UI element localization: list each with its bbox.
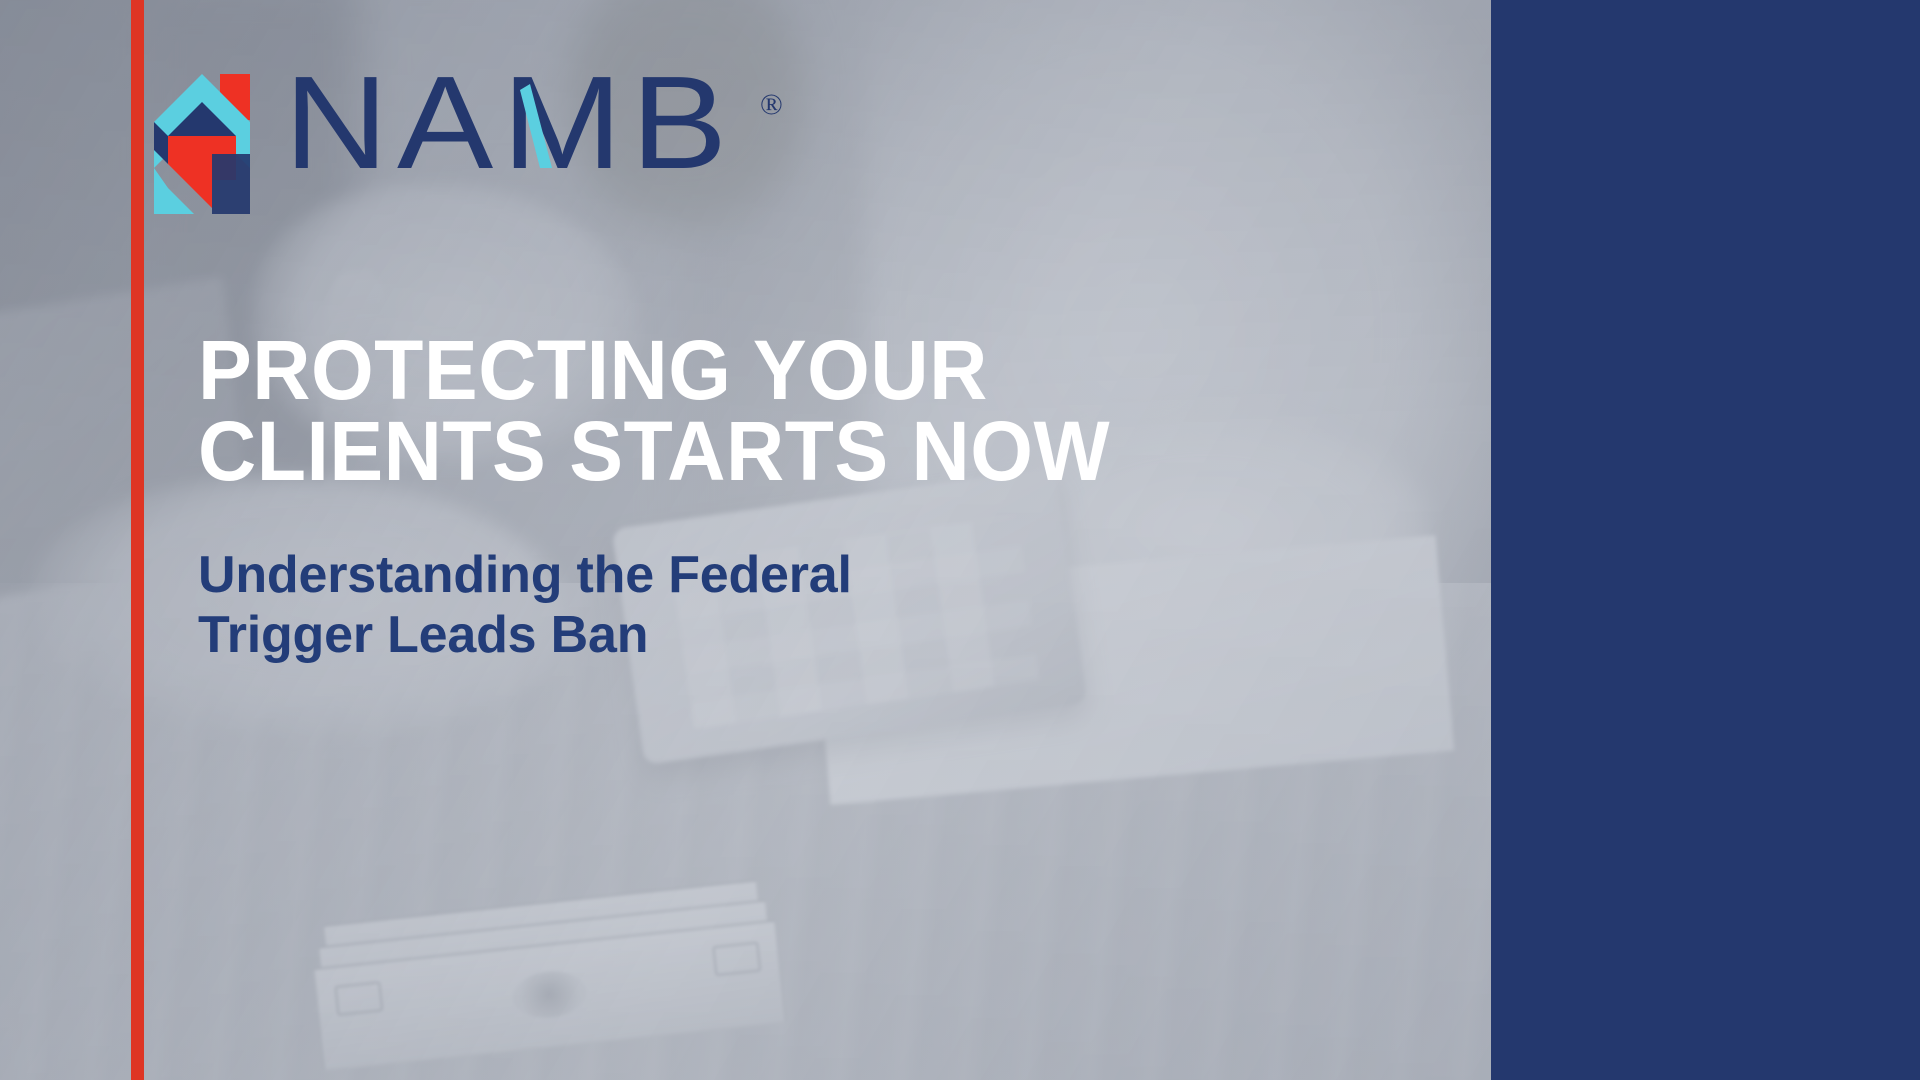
svg-text:NAMB: NAMB bbox=[284, 68, 736, 186]
registered-trademark-icon: ® bbox=[760, 90, 783, 120]
namb-house-mark-icon bbox=[150, 68, 254, 214]
subtitle-line-2: Trigger Leads Ban bbox=[198, 605, 1058, 665]
namb-wordmark: NAMB bbox=[284, 68, 754, 186]
navy-side-panel bbox=[1491, 0, 1920, 1080]
slide-headline: PROTECTING YOUR CLIENTS STARTS NOW bbox=[198, 330, 1158, 491]
red-accent-bar bbox=[131, 0, 144, 1080]
slide-subtitle: Understanding the Federal Trigger Leads … bbox=[198, 545, 1058, 666]
headline-line-1: PROTECTING YOUR bbox=[198, 330, 1158, 411]
subtitle-line-1: Understanding the Federal bbox=[198, 545, 1058, 605]
namb-logo[interactable]: NAMB ® bbox=[150, 68, 783, 214]
presentation-slide: NAMB ® PROTECTING YOUR CLIENTS STARTS NO… bbox=[0, 0, 1920, 1080]
headline-line-2: CLIENTS STARTS NOW bbox=[198, 411, 1158, 492]
